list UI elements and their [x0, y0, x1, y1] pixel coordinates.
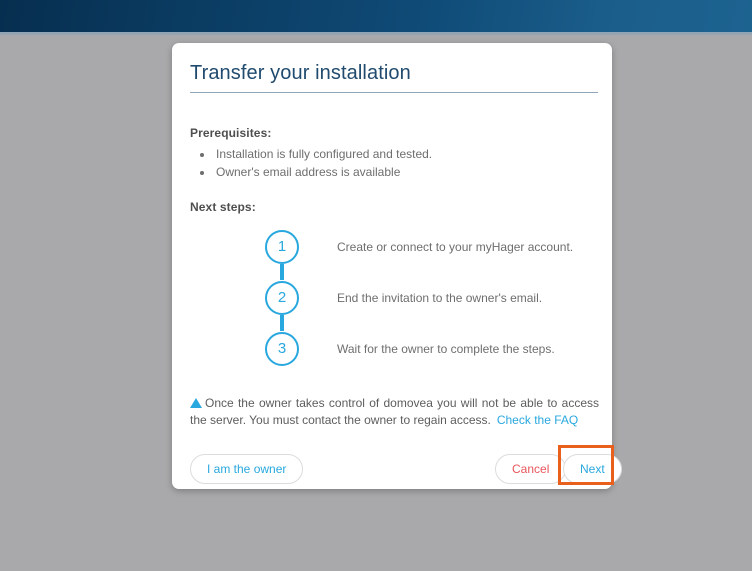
check-the-faq-link[interactable]: Check the FAQ	[497, 413, 578, 427]
list-item: Installation is fully configured and tes…	[214, 145, 432, 163]
warning-notice: Once the owner takes control of domovea …	[190, 395, 599, 429]
next-button[interactable]: Next	[563, 454, 622, 484]
step-text: Wait for the owner to complete the steps…	[337, 341, 555, 357]
step-number-badge: 3	[265, 332, 299, 366]
dialog-footer: I am the owner Cancel Next	[172, 447, 612, 489]
step-connector	[280, 315, 284, 331]
step-number-badge: 2	[265, 281, 299, 315]
app-top-bar	[0, 0, 752, 32]
warning-triangle-icon	[190, 398, 202, 408]
step-connector	[280, 264, 284, 280]
step-number-badge: 1	[265, 230, 299, 264]
step-text: Create or connect to your myHager accoun…	[337, 239, 573, 255]
i-am-the-owner-button[interactable]: I am the owner	[190, 454, 303, 484]
next-steps-label: Next steps:	[190, 200, 256, 214]
step-text: End the invitation to the owner's email.	[337, 290, 542, 306]
step-row: 1 Create or connect to your myHager acco…	[265, 221, 605, 272]
transfer-installation-dialog: Transfer your installation Prerequisites…	[172, 43, 612, 489]
title-divider	[190, 92, 598, 93]
dialog-title: Transfer your installation	[190, 62, 411, 85]
step-row: 3 Wait for the owner to complete the ste…	[265, 323, 605, 374]
list-item: Owner's email address is available	[214, 163, 432, 181]
prerequisites-list: Installation is fully configured and tes…	[194, 145, 432, 181]
cancel-button[interactable]: Cancel	[495, 454, 566, 484]
prerequisites-label: Prerequisites:	[190, 126, 271, 140]
step-row: 2 End the invitation to the owner's emai…	[265, 272, 605, 323]
steps-list: 1 Create or connect to your myHager acco…	[265, 221, 605, 374]
